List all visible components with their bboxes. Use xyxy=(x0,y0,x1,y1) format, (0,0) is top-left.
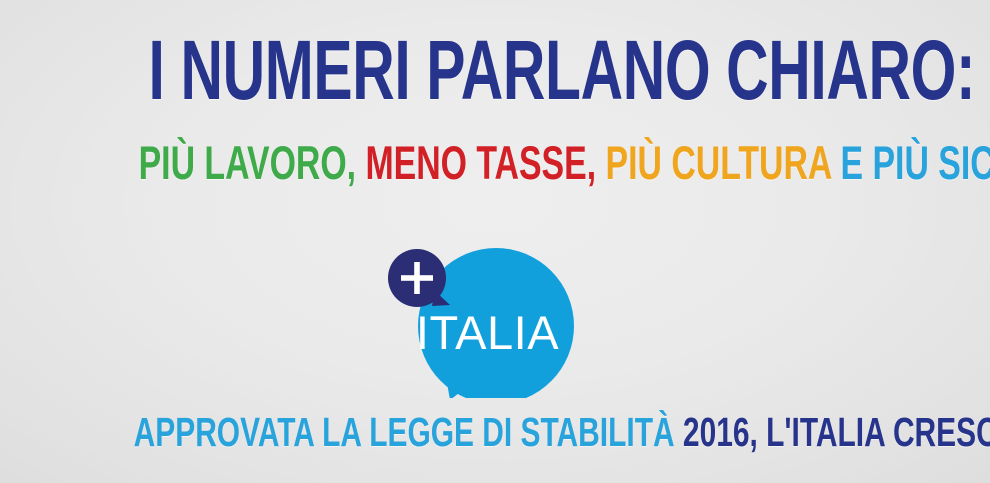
page-title: I NUMERI PARLANO CHIARO: xyxy=(149,26,842,114)
caption-segment-anno-crescita: 2016, L'ITALIA CRESCE. xyxy=(683,409,990,455)
subtitle-segment-lavoro: PIÙ LAVORO, xyxy=(139,136,366,189)
plus-bubble-icon xyxy=(388,249,450,307)
italia-logo: ITALIA xyxy=(380,248,580,398)
caption-line: APPROVATA LA LEGGE DI STABILITÀ 2016, L'… xyxy=(134,408,857,456)
poster-canvas: I NUMERI PARLANO CHIARO: PIÙ LAVORO, MEN… xyxy=(0,0,990,483)
subtitle-segment-sicurezza: E PIÙ SICUREZZA. xyxy=(840,136,990,189)
caption-segment-legge-stabilita: APPROVATA LA LEGGE DI STABILITÀ xyxy=(134,409,683,455)
subtitle-segment-tasse: MENO TASSE, xyxy=(365,136,605,189)
logo-graphic xyxy=(380,248,580,398)
subtitle-line: PIÙ LAVORO, MENO TASSE, PIÙ CULTURA E PI… xyxy=(139,136,852,190)
subtitle-segment-cultura: PIÙ CULTURA xyxy=(606,136,841,189)
